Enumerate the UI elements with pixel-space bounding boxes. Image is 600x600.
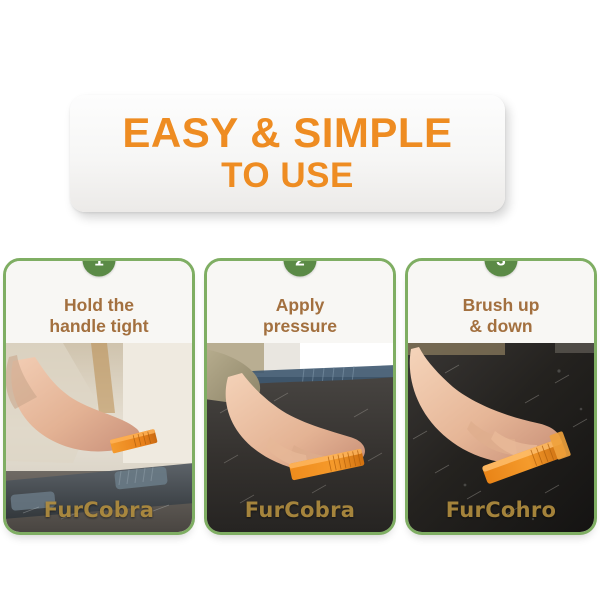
step-photo-2: FurCobra xyxy=(207,343,393,532)
step-card-1: 1 Hold the handle tight xyxy=(3,258,195,535)
step-card-3: 3 Brush up & down xyxy=(405,258,597,535)
step-photo-1-illustration xyxy=(6,343,192,532)
step-caption-1: Hold the handle tight xyxy=(49,295,148,337)
step-photo-3: FurCohro xyxy=(408,343,594,532)
step-caption-2: Apply pressure xyxy=(263,295,337,337)
step-photo-3-illustration xyxy=(408,343,594,532)
step-card-2: 2 Apply pressure xyxy=(204,258,396,535)
step-photo-1: FurCobra xyxy=(6,343,192,532)
banner-headline-primary: EASY & SIMPLE xyxy=(122,112,452,155)
header-banner: EASY & SIMPLE TO USE xyxy=(70,95,505,212)
step-caption-3: Brush up & down xyxy=(463,295,540,337)
step-photo-2-illustration xyxy=(207,343,393,532)
steps-container: 1 Hold the handle tight xyxy=(3,258,597,535)
banner-headline-secondary: TO USE xyxy=(221,157,354,196)
